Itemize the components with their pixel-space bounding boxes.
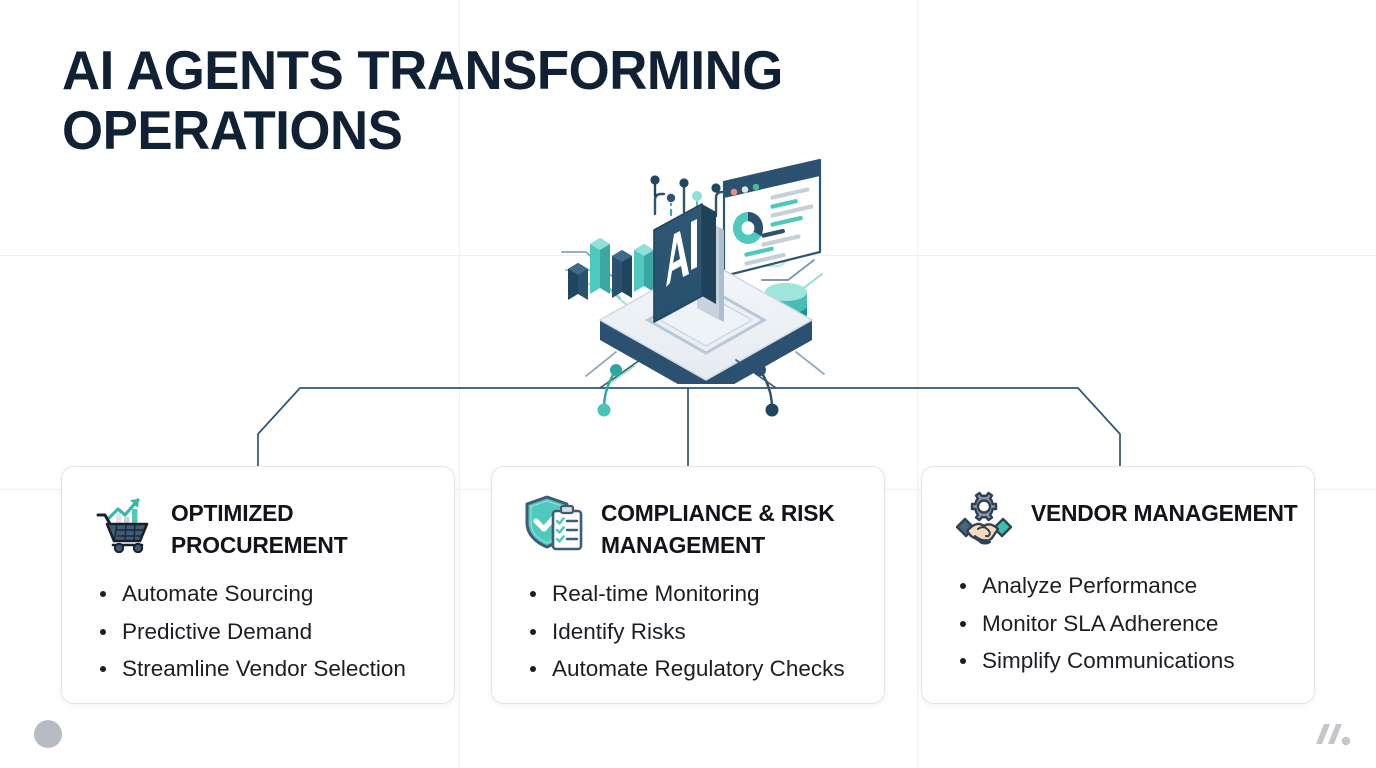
list-item: Real-time Monitoring xyxy=(526,575,864,613)
handshake-gear-icon xyxy=(953,491,1015,553)
ai-hub-illustration xyxy=(556,152,856,384)
shield-checklist-icon xyxy=(523,491,585,553)
card-compliance-risk-management[interactable]: Compliance & Risk Management Real-time M… xyxy=(491,466,885,704)
card-optimized-procurement[interactable]: Optimized Procurement Automate Sourcing … xyxy=(61,466,455,704)
card-title: Compliance & Risk Management xyxy=(601,489,876,561)
card-header: Vendor Management xyxy=(922,467,1314,553)
card-bullet-list: Real-time Monitoring Identify Risks Auto… xyxy=(492,575,884,688)
brand-logo-mark xyxy=(1310,718,1358,754)
slide-canvas: AI Agents Transforming Operations xyxy=(0,0,1376,768)
connector-left xyxy=(258,388,688,466)
list-item: Simplify Communications xyxy=(956,642,1294,680)
list-item: Streamline Vendor Selection xyxy=(96,650,434,688)
card-vendor-management[interactable]: Vendor Management Analyze Performance Mo… xyxy=(921,466,1315,704)
card-title: Vendor Management xyxy=(1031,489,1297,529)
card-bullet-list: Automate Sourcing Predictive Demand Stre… xyxy=(62,575,454,688)
list-item: Predictive Demand xyxy=(96,613,434,651)
card-bullet-list: Analyze Performance Monitor SLA Adherenc… xyxy=(922,567,1314,680)
list-item: Monitor SLA Adherence xyxy=(956,605,1294,643)
feature-cards-row: Optimized Procurement Automate Sourcing … xyxy=(0,466,1376,706)
page-title: AI Agents Transforming Operations xyxy=(62,40,868,160)
list-item: Automate Sourcing xyxy=(96,575,434,613)
card-header: Optimized Procurement xyxy=(62,467,454,561)
card-title: Optimized Procurement xyxy=(171,489,446,561)
connector-right xyxy=(688,388,1120,466)
shopping-cart-growth-icon xyxy=(93,491,155,553)
list-item: Automate Regulatory Checks xyxy=(526,650,864,688)
dashboard-window-icon xyxy=(724,160,820,276)
list-item: Identify Risks xyxy=(526,613,864,651)
footer-dot-decoration xyxy=(34,720,62,748)
list-item: Analyze Performance xyxy=(956,567,1294,605)
card-header: Compliance & Risk Management xyxy=(492,467,884,561)
